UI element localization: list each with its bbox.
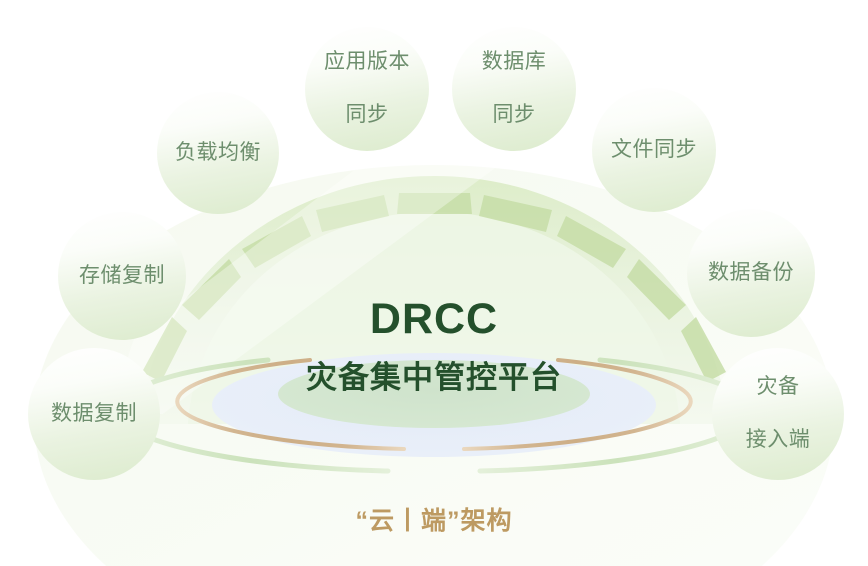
node-label: 存储复制 <box>73 263 171 290</box>
platform-title-main: DRCC <box>0 295 868 344</box>
node-file-sync[interactable]: 文件同步 <box>592 88 716 212</box>
node-load-balancing[interactable]: 负载均衡 <box>157 92 279 214</box>
node-label: 数据复制 <box>45 401 143 428</box>
node-database-sync[interactable]: 数据库同步 <box>452 27 576 151</box>
node-label: 数据备份 <box>702 260 800 287</box>
node-label: 数据库同步 <box>470 49 559 130</box>
architecture-caption: “云丨端”架构 <box>0 501 868 537</box>
node-label: 应用版本同步 <box>312 49 422 130</box>
node-label: 文件同步 <box>605 137 703 164</box>
drcc-architecture-diagram: 应用版本同步 数据库同步 负载均衡 文件同步 存储复制 数据备份 数据复制 灾备… <box>0 0 868 566</box>
node-label: 负载均衡 <box>169 140 267 167</box>
platform-title-sub: 灾备集中管控平台 <box>0 352 868 397</box>
node-app-version-sync[interactable]: 应用版本同步 <box>305 27 429 151</box>
